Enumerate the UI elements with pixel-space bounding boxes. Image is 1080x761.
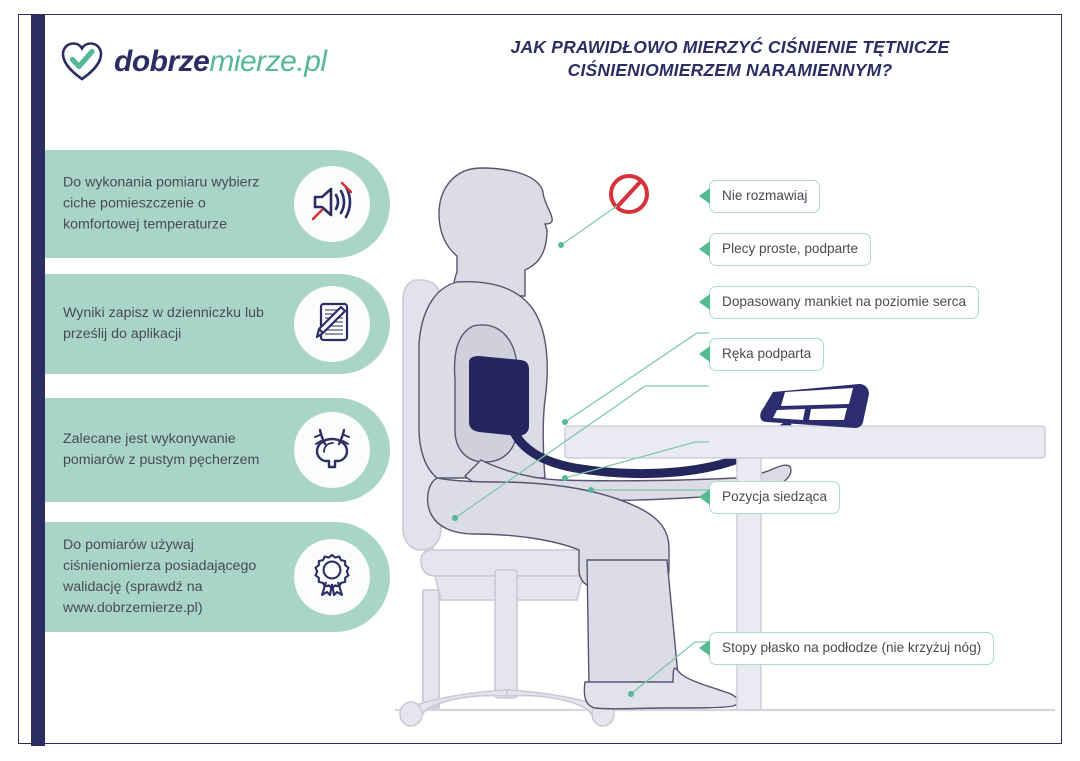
callout-pointer-icon bbox=[699, 489, 710, 505]
callout-pointer-icon bbox=[699, 294, 710, 310]
callout-pointer-icon bbox=[699, 346, 710, 362]
page-title-line2: CIŚNIENIOMIERZEM NARAMIENNYM? bbox=[440, 59, 1020, 82]
callout-label: Ręka podparta bbox=[709, 338, 824, 371]
page-title-line1: JAK PRAWIDŁOWO MIERZYĆ CIŚNIENIE TĘTNICZ… bbox=[440, 36, 1020, 59]
blood-pressure-cuff bbox=[469, 356, 529, 436]
tip-card: Zalecane jest wykonywanie pomiarów z pus… bbox=[45, 398, 390, 502]
tip-card: Do wykonania pomiaru wybierz ciche pomie… bbox=[45, 150, 390, 258]
logo-text-primary: dobrze bbox=[114, 45, 209, 78]
blood-pressure-monitor bbox=[760, 384, 869, 428]
callout-pointer-icon bbox=[699, 188, 710, 204]
tip-card-icon-circle bbox=[294, 166, 370, 242]
tip-card: Do pomiarów używaj ciśnieniomierza posia… bbox=[45, 522, 390, 632]
callout-label: Plecy proste, podparte bbox=[709, 233, 871, 266]
callout-label: Pozycja siedząca bbox=[709, 481, 840, 514]
callout-pointer-icon bbox=[699, 640, 710, 656]
callout-text: Plecy proste, podparte bbox=[722, 241, 858, 256]
tip-card-icon-circle bbox=[294, 539, 370, 615]
callout-pointer-icon bbox=[699, 241, 710, 257]
logo-text-secondary: mierze.pl bbox=[209, 45, 326, 78]
tip-card-text: Zalecane jest wykonywanie pomiarów z pus… bbox=[63, 429, 278, 471]
brand-logo[interactable]: dobrzemierze.pl bbox=[60, 40, 327, 84]
tip-card-icon-circle bbox=[294, 286, 370, 362]
callout-text: Dopasowany mankiet na poziomie serca bbox=[722, 294, 966, 309]
bladder-icon bbox=[309, 425, 355, 476]
infographic-page: dobrzemierze.pl JAK PRAWIDŁOWO MIERZYĆ C… bbox=[0, 0, 1080, 761]
speaker-muted-icon bbox=[309, 179, 355, 230]
callout-label: Nie rozmawiaj bbox=[709, 180, 820, 213]
left-accent-bar bbox=[31, 14, 45, 746]
tip-card-text: Do pomiarów używaj ciśnieniomierza posia… bbox=[63, 535, 278, 619]
heart-check-icon bbox=[60, 40, 104, 84]
tip-card: Wyniki zapisz w dzienniczku lub prześlij… bbox=[45, 274, 390, 374]
tip-card-icon-circle bbox=[294, 412, 370, 488]
callout-text: Ręka podparta bbox=[722, 346, 811, 361]
tip-card-text: Wyniki zapisz w dzienniczku lub prześlij… bbox=[63, 303, 278, 345]
notepad-pencil-icon bbox=[309, 299, 355, 350]
callout-label: Stopy płasko na podłodze (nie krzyżuj nó… bbox=[709, 632, 994, 665]
callout-text: Nie rozmawiaj bbox=[722, 188, 807, 203]
callout-label: Dopasowany mankiet na poziomie serca bbox=[709, 286, 979, 319]
callout-text: Stopy płasko na podłodze (nie krzyżuj nó… bbox=[722, 640, 981, 655]
tip-card-text: Do wykonania pomiaru wybierz ciche pomie… bbox=[63, 173, 278, 236]
award-ribbon-icon bbox=[309, 552, 355, 603]
page-title: JAK PRAWIDŁOWO MIERZYĆ CIŚNIENIE TĘTNICZ… bbox=[440, 36, 1020, 82]
callout-text: Pozycja siedząca bbox=[722, 489, 827, 504]
